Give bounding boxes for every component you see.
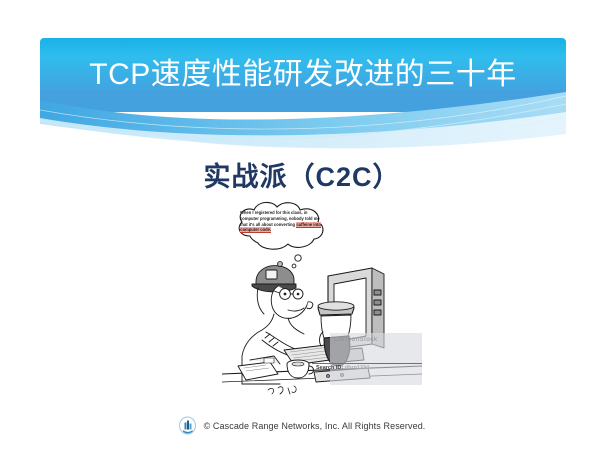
bubble-line-5-plain: converting	[274, 222, 296, 227]
watermark-rule	[312, 363, 422, 364]
watermark-search-id-label: Search ID:	[316, 365, 343, 371]
watermark-search-id: Search ID: dbrn1234	[316, 365, 369, 371]
title-banner: TCP速度性能研发改进的三十年	[40, 38, 566, 104]
thought-bubble-text: When I registered for this class, in com…	[240, 210, 324, 233]
slide-canvas: TCP速度性能研发改进的三十年	[0, 0, 604, 467]
illustration: When I registered for this class, in com…	[222, 198, 422, 408]
subtitle: 实战派（C2C）	[0, 155, 604, 194]
bubble-line-3: programming, nobody	[260, 216, 304, 221]
bubble-line-1: When I registered for	[240, 210, 281, 215]
bubble-highlight-1: caffeine into	[296, 222, 321, 228]
page-title: TCP速度性能研发改进的三十年	[40, 49, 566, 93]
copyright-text: © Cascade Range Networks, Inc. All Right…	[204, 421, 426, 431]
watermark-search-id-value: dbrn1234	[345, 365, 369, 371]
stock-watermark: CartoonStock Search ID: dbrn1234	[330, 333, 422, 385]
footer: © Cascade Range Networks, Inc. All Right…	[0, 416, 604, 435]
company-logo-icon	[179, 416, 196, 435]
bubble-highlight-2: computer code.	[240, 227, 271, 233]
watermark-brand: CartoonStock	[334, 337, 378, 343]
